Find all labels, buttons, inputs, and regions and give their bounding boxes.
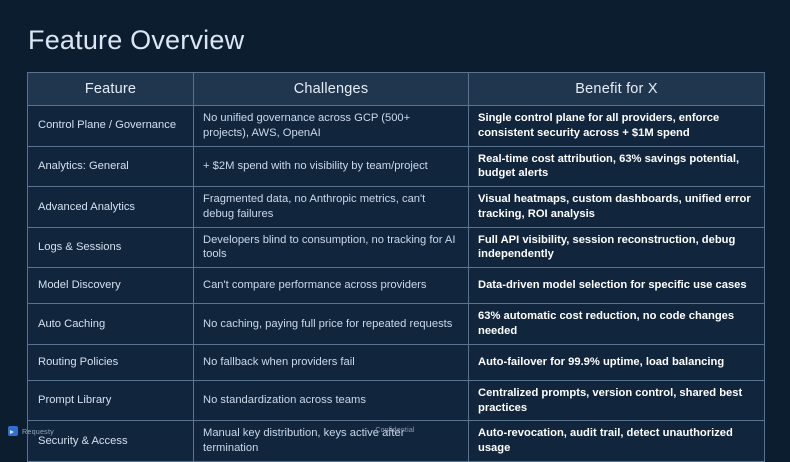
cell-challenge: Fragmented data, no Anthropic metrics, c…: [194, 187, 469, 228]
cell-benefit: Full API visibility, session reconstruct…: [469, 227, 765, 268]
confidentiality-label: Confidential: [0, 427, 790, 434]
cell-benefit: Single control plane for all providers, …: [469, 106, 765, 147]
cell-feature: Prompt Library: [28, 380, 194, 421]
cell-challenge: No fallback when providers fail: [194, 344, 469, 380]
table-row: Advanced Analytics Fragmented data, no A…: [28, 187, 765, 228]
cell-challenge: No unified governance across GCP (500+ p…: [194, 106, 469, 147]
cell-challenge: Developers blind to consumption, no trac…: [194, 227, 469, 268]
cell-benefit: Real-time cost attribution, 63% savings …: [469, 146, 765, 187]
slide-footer: Requesty Confidential: [0, 424, 790, 445]
column-header-benefit: Benefit for X: [469, 73, 765, 106]
cell-feature: Control Plane / Governance: [28, 106, 194, 147]
table-row: Auto Caching No caching, paying full pri…: [28, 304, 765, 345]
cell-benefit: Visual heatmaps, custom dashboards, unif…: [469, 187, 765, 228]
cell-challenge: Can't compare performance across provide…: [194, 268, 469, 304]
cell-benefit: Centralized prompts, version control, sh…: [469, 380, 765, 421]
cell-benefit: 63% automatic cost reduction, no code ch…: [469, 304, 765, 345]
slide-canvas: Feature Overview Feature Challenges Bene…: [0, 0, 790, 445]
cell-feature: Analytics: General: [28, 146, 194, 187]
cell-feature: Logs & Sessions: [28, 227, 194, 268]
table-header-row: Feature Challenges Benefit for X: [28, 73, 765, 106]
cell-feature: Auto Caching: [28, 304, 194, 345]
table-body: Control Plane / Governance No unified go…: [28, 106, 765, 462]
cell-feature: Model Discovery: [28, 268, 194, 304]
table-row: Logs & Sessions Developers blind to cons…: [28, 227, 765, 268]
cell-feature: Advanced Analytics: [28, 187, 194, 228]
table-header: Feature Challenges Benefit for X: [28, 73, 765, 106]
table-row: Prompt Library No standardization across…: [28, 380, 765, 421]
table-row: Routing Policies No fallback when provid…: [28, 344, 765, 380]
table-row: Model Discovery Can't compare performanc…: [28, 268, 765, 304]
cell-benefit: Data-driven model selection for specific…: [469, 268, 765, 304]
cell-feature: Routing Policies: [28, 344, 194, 380]
table-row: Analytics: General + $2M spend with no v…: [28, 146, 765, 187]
cell-benefit: Auto-failover for 99.9% uptime, load bal…: [469, 344, 765, 380]
cell-challenge: No caching, paying full price for repeat…: [194, 304, 469, 345]
column-header-feature: Feature: [28, 73, 194, 106]
feature-table-container: Feature Challenges Benefit for X Control…: [27, 72, 764, 462]
column-header-challenges: Challenges: [194, 73, 469, 106]
cell-challenge: No standardization across teams: [194, 380, 469, 421]
table-row: Control Plane / Governance No unified go…: [28, 106, 765, 147]
cell-challenge: + $2M spend with no visibility by team/p…: [194, 146, 469, 187]
feature-table: Feature Challenges Benefit for X Control…: [27, 72, 765, 462]
page-title: Feature Overview: [28, 26, 244, 56]
